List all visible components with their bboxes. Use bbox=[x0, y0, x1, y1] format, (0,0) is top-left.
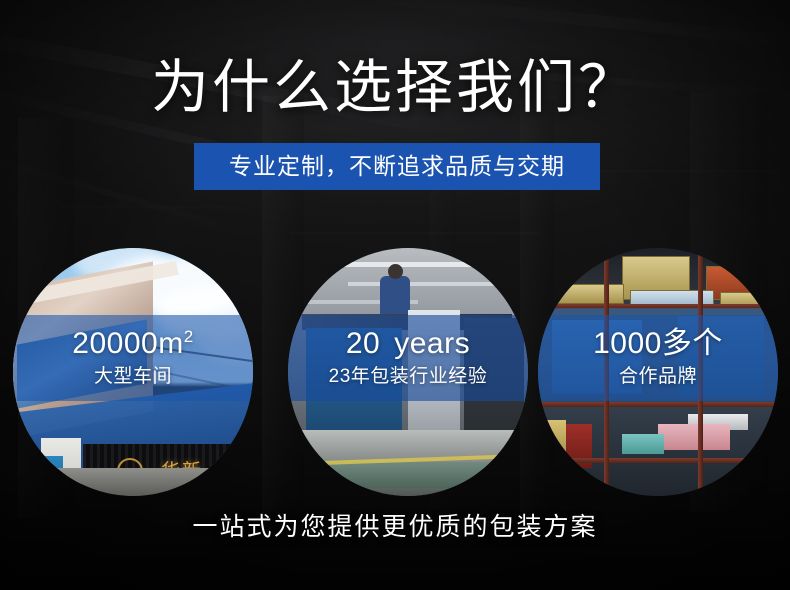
feature-main-value: 1000多个 bbox=[593, 327, 723, 361]
feature-circle-caption: 20000m2 大型车间 bbox=[13, 315, 253, 401]
ceiling-light bbox=[348, 282, 508, 286]
footer-tagline: 一站式为您提供更优质的包装方案 bbox=[0, 510, 790, 544]
feature-sub-label: 合作品牌 bbox=[619, 364, 697, 390]
feature-circle-partner-brands[interactable]: 1000多个 合作品牌 bbox=[538, 248, 778, 496]
feature-circle-caption: 20years 23年包装行业经验 bbox=[288, 315, 528, 401]
worker-head bbox=[388, 264, 403, 279]
feature-circle-row: 华新 20000m2 大型车间 bbox=[0, 248, 790, 496]
feature-sub-label: 23年包装行业经验 bbox=[329, 364, 488, 390]
floor-mat bbox=[318, 462, 508, 488]
square-meter-superscript: 2 bbox=[184, 327, 194, 346]
ceiling-light bbox=[318, 262, 498, 267]
shelf-bar bbox=[538, 402, 778, 407]
feature-sub-label: 大型车间 bbox=[94, 364, 172, 390]
feature-main-value: 20000m2 bbox=[72, 327, 193, 361]
feature-circle-workshop-area[interactable]: 华新 20000m2 大型车间 bbox=[13, 248, 253, 496]
shelf-bar bbox=[538, 458, 778, 463]
subtitle-banner-text: 专业定制，不断追求品质与交期 bbox=[229, 143, 565, 190]
worker-figure bbox=[380, 276, 410, 318]
feature-circle-caption: 1000多个 合作品牌 bbox=[538, 315, 778, 401]
award-plaque bbox=[546, 284, 624, 304]
feature-main-value: 20years bbox=[346, 327, 470, 361]
promo-banner-page: 为什么选择我们？ 专业定制，不断追求品质与交期 华新 bbox=[0, 0, 790, 590]
product-box bbox=[658, 424, 730, 450]
subtitle-banner: 专业定制，不断追求品质与交期 bbox=[194, 143, 600, 190]
product-box bbox=[622, 434, 664, 454]
ground-pavement bbox=[13, 468, 253, 496]
feature-circle-years-experience[interactable]: 20years 23年包装行业经验 bbox=[288, 248, 528, 496]
page-title: 为什么选择我们？ bbox=[0, 53, 790, 123]
